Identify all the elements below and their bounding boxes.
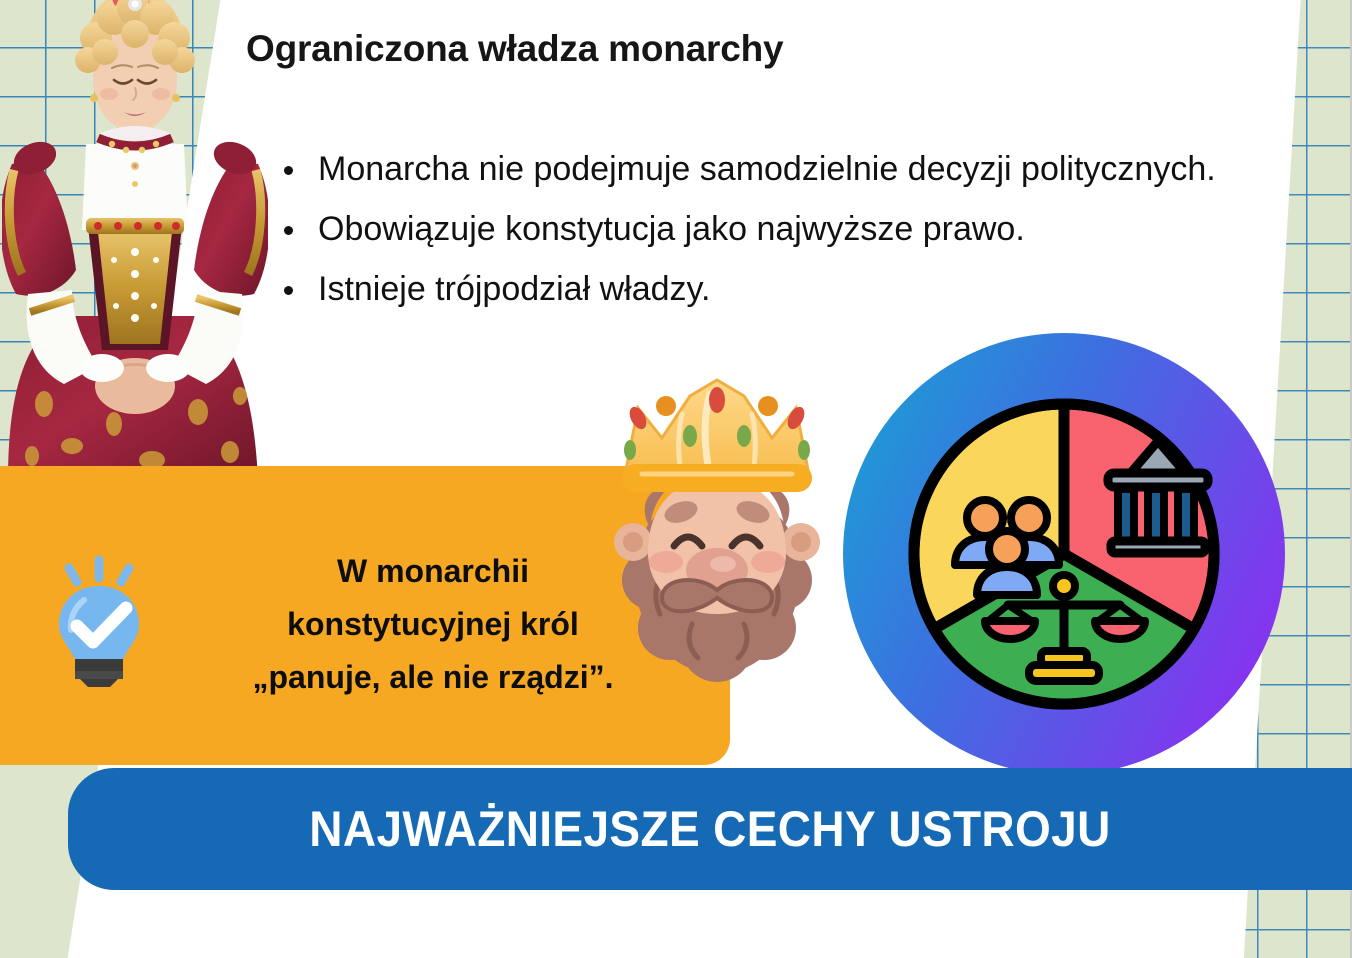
list-item: Monarcha nie podejmuje samodzielnie decy… — [272, 142, 1232, 196]
page-title: Ograniczona władza monarchy — [246, 28, 1106, 70]
list-item: Obowiązuje konstytucja jako najwyższe pr… — [272, 202, 1232, 256]
list-item-label: Istnieje trójpodział władzy. — [318, 270, 710, 308]
bullet-dot-icon — [284, 166, 293, 175]
lightbulb-check-icon — [44, 552, 154, 687]
list-item-label: Obowiązuje konstytucja jako najwyższe pr… — [318, 210, 1025, 248]
bullet-dot-icon — [284, 226, 293, 235]
feature-bullet-list: Monarcha nie podejmuje samodzielnie decy… — [272, 142, 1232, 322]
footer-banner-label: NAJWAŻNIEJSZE CECHY USTROJU — [119, 768, 1300, 890]
separation-of-powers-pie-icon — [843, 333, 1285, 775]
list-item-label: Monarcha nie podejmuje samodzielnie decy… — [318, 150, 1216, 188]
renaissance-queen-photo — [2, 0, 268, 480]
list-item: Istnieje trójpodział władzy. — [272, 262, 1232, 316]
slide-canvas: Ograniczona władza monarchy Monarcha nie… — [0, 0, 1352, 958]
king-face-icon — [586, 374, 848, 684]
bullet-dot-icon — [284, 286, 293, 295]
